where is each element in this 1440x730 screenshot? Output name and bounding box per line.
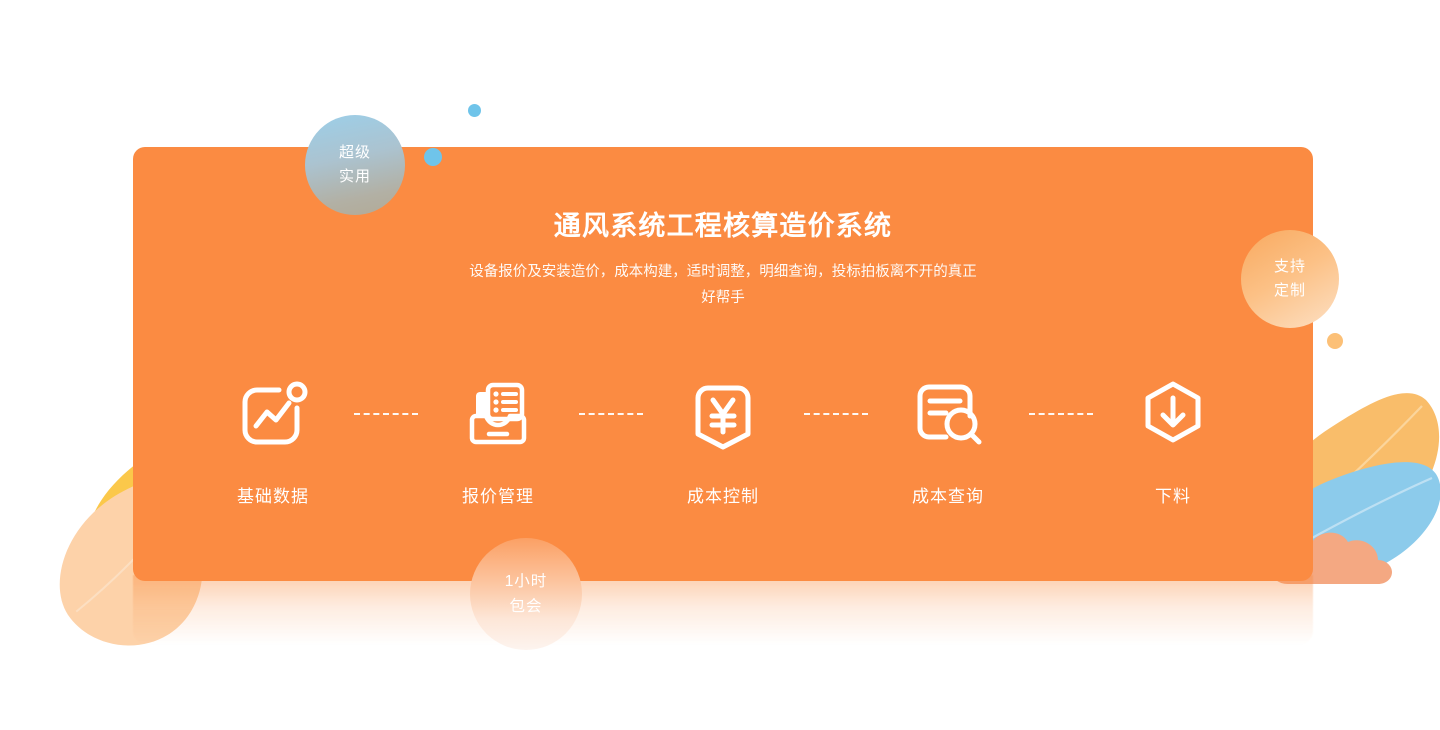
feature-label: 成本控制 [687,482,759,507]
badge-line-1: 1小时 [505,569,548,594]
badge-line-1: 支持 [1274,255,1306,279]
badge-super-practical: 超级 实用 [305,115,405,215]
dashed-line [354,413,418,415]
connector-4 [1018,372,1103,456]
dashed-line [1029,413,1093,415]
badge-supports-customization: 支持 定制 [1241,230,1339,328]
hexagon-download-icon [1131,372,1215,456]
badge-one-hour-mastery: 1小时 包会 [470,538,582,650]
feature-item-quotation-management[interactable]: 报价管理 [428,372,568,507]
dashed-line [579,413,643,415]
feature-item-cost-control[interactable]: 成本控制 [653,372,793,507]
feature-label: 下料 [1155,482,1191,507]
connector-2 [568,372,653,456]
feature-label: 报价管理 [462,482,534,507]
feature-item-cost-query[interactable]: 成本查询 [878,372,1018,507]
feature-label: 成本查询 [912,482,984,507]
yen-tag-icon [681,372,765,456]
feature-label: 基础数据 [237,482,309,507]
blue-dot-large-icon [424,148,442,166]
badge-line-2: 包会 [509,594,542,619]
document-search-icon [906,372,990,456]
page-subtitle: 设备报价及安装造价，成本构建，适时调整，明细查询，投标拍板离不开的真正好帮手 [463,260,983,311]
document-inbox-icon [456,372,540,456]
page-title: 通风系统工程核算造价系统 [133,210,1313,242]
connector-1 [343,372,428,456]
connector-3 [793,372,878,456]
orange-dot-icon [1327,333,1343,349]
feature-card: 通风系统工程核算造价系统 设备报价及安装造价，成本构建，适时调整，明细查询，投标… [133,147,1313,581]
dashed-line [804,413,868,415]
card-shadow-glow [133,575,1313,645]
card-heading: 通风系统工程核算造价系统 设备报价及安装造价，成本构建，适时调整，明细查询，投标… [133,210,1313,311]
badge-line-2: 定制 [1274,279,1306,303]
hero-banner: 通风系统工程核算造价系统 设备报价及安装造价，成本构建，适时调整，明细查询，投标… [0,0,1440,730]
badge-line-1: 超级 [339,141,371,165]
blue-dot-small-icon [468,104,481,117]
feature-item-blanking[interactable]: 下料 [1103,372,1243,507]
feature-item-basic-data[interactable]: 基础数据 [203,372,343,507]
badge-line-2: 实用 [339,165,371,189]
feature-list: 基础数据 [203,372,1243,507]
chart-card-icon [231,372,315,456]
